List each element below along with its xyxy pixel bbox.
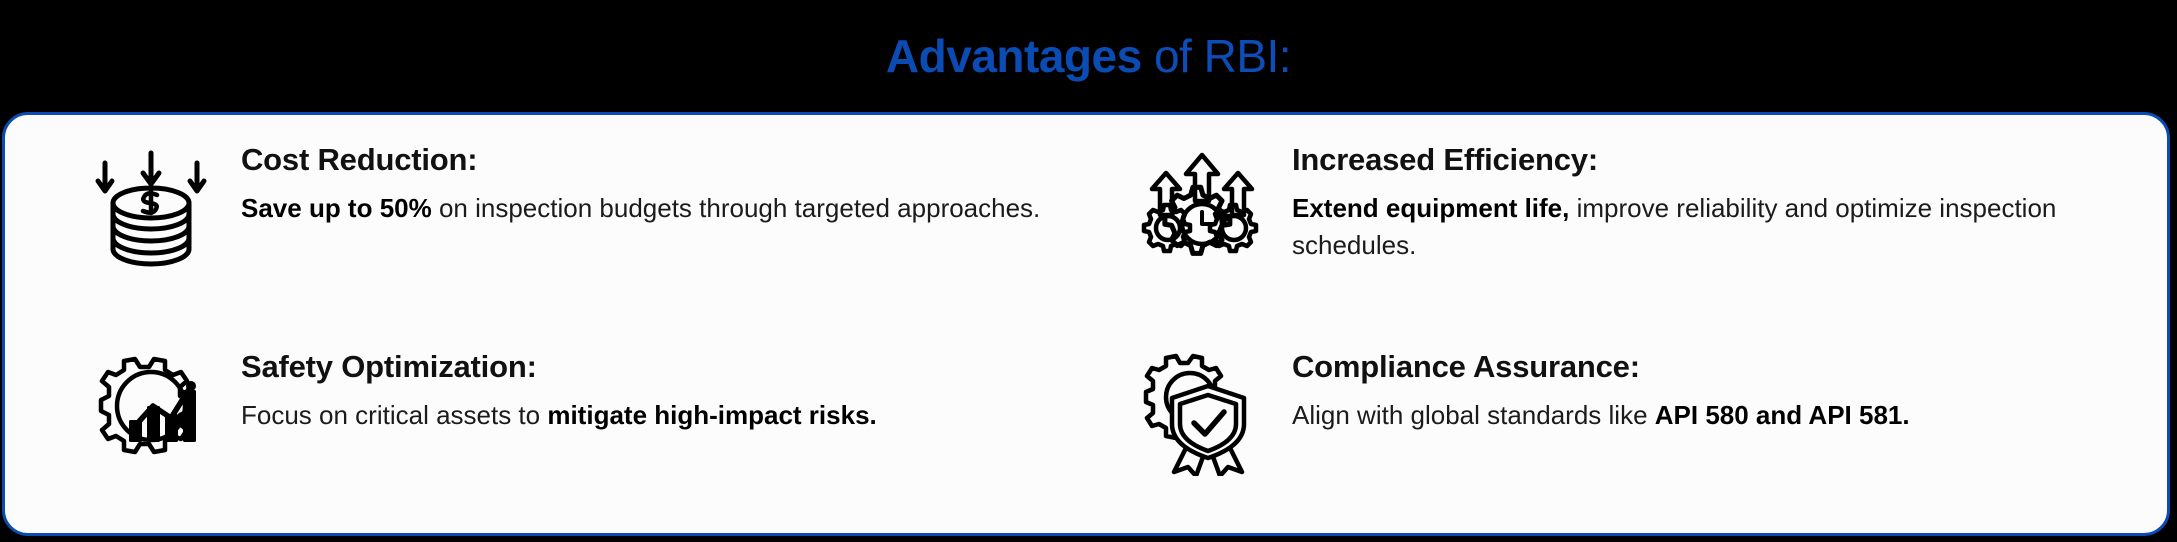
coins-down-arrows-icon [87, 141, 215, 269]
advantages-infographic: Advantages of RBI: [0, 0, 2177, 542]
advantage-text-block: Safety Optimization: Focus on critical a… [241, 344, 1086, 434]
advantage-body-rest: Align with global standards like [1292, 400, 1655, 430]
gear-shield-check-ribbon-icon [1138, 348, 1266, 476]
advantage-body-bold: API 580 and API 581. [1655, 400, 1910, 430]
advantage-body: Align with global standards like API 580… [1292, 397, 2137, 434]
advantage-body: Save up to 50% on inspection budgets thr… [241, 190, 1081, 227]
advantages-grid: Cost Reduction: Save up to 50% on inspec… [5, 115, 2167, 533]
advantage-text-block: Cost Reduction: Save up to 50% on inspec… [241, 137, 1086, 227]
advantage-heading: Increased Efficiency: [1292, 143, 2137, 178]
advantages-card: Cost Reduction: Save up to 50% on inspec… [2, 112, 2170, 536]
page-title-strong: Advantages [886, 30, 1142, 82]
advantage-item-safety-optimization: Safety Optimization: Focus on critical a… [35, 326, 1086, 515]
advantage-item-increased-efficiency: Increased Efficiency: Extend equipment l… [1086, 137, 2137, 326]
advantage-body-bold: mitigate high-impact risks. [547, 400, 876, 430]
page-title: Advantages of RBI: [886, 33, 1291, 79]
page-title-light: of RBI: [1142, 30, 1291, 82]
advantage-body: Focus on critical assets to mitigate hig… [241, 397, 1081, 434]
advantage-item-cost-reduction: Cost Reduction: Save up to 50% on inspec… [35, 137, 1086, 326]
advantage-body-bold: Extend equipment life, [1292, 193, 1569, 223]
advantage-body-rest: Focus on critical assets to [241, 400, 547, 430]
advantage-body: Extend equipment life, improve reliabili… [1292, 190, 2137, 264]
title-bar: Advantages of RBI: [0, 0, 2177, 112]
gears-clock-up-arrows-icon [1138, 141, 1266, 269]
advantage-heading: Compliance Assurance: [1292, 350, 2137, 385]
advantage-text-block: Increased Efficiency: Extend equipment l… [1292, 137, 2137, 264]
advantage-body-bold: Save up to 50% [241, 193, 432, 223]
advantage-text-block: Compliance Assurance: Align with global … [1292, 344, 2137, 434]
gear-bar-chart-icon [87, 348, 215, 476]
advantage-heading: Cost Reduction: [241, 143, 1086, 178]
advantage-body-rest: on inspection budgets through targeted a… [432, 193, 1041, 223]
advantage-heading: Safety Optimization: [241, 350, 1086, 385]
advantage-item-compliance-assurance: Compliance Assurance: Align with global … [1086, 326, 2137, 515]
